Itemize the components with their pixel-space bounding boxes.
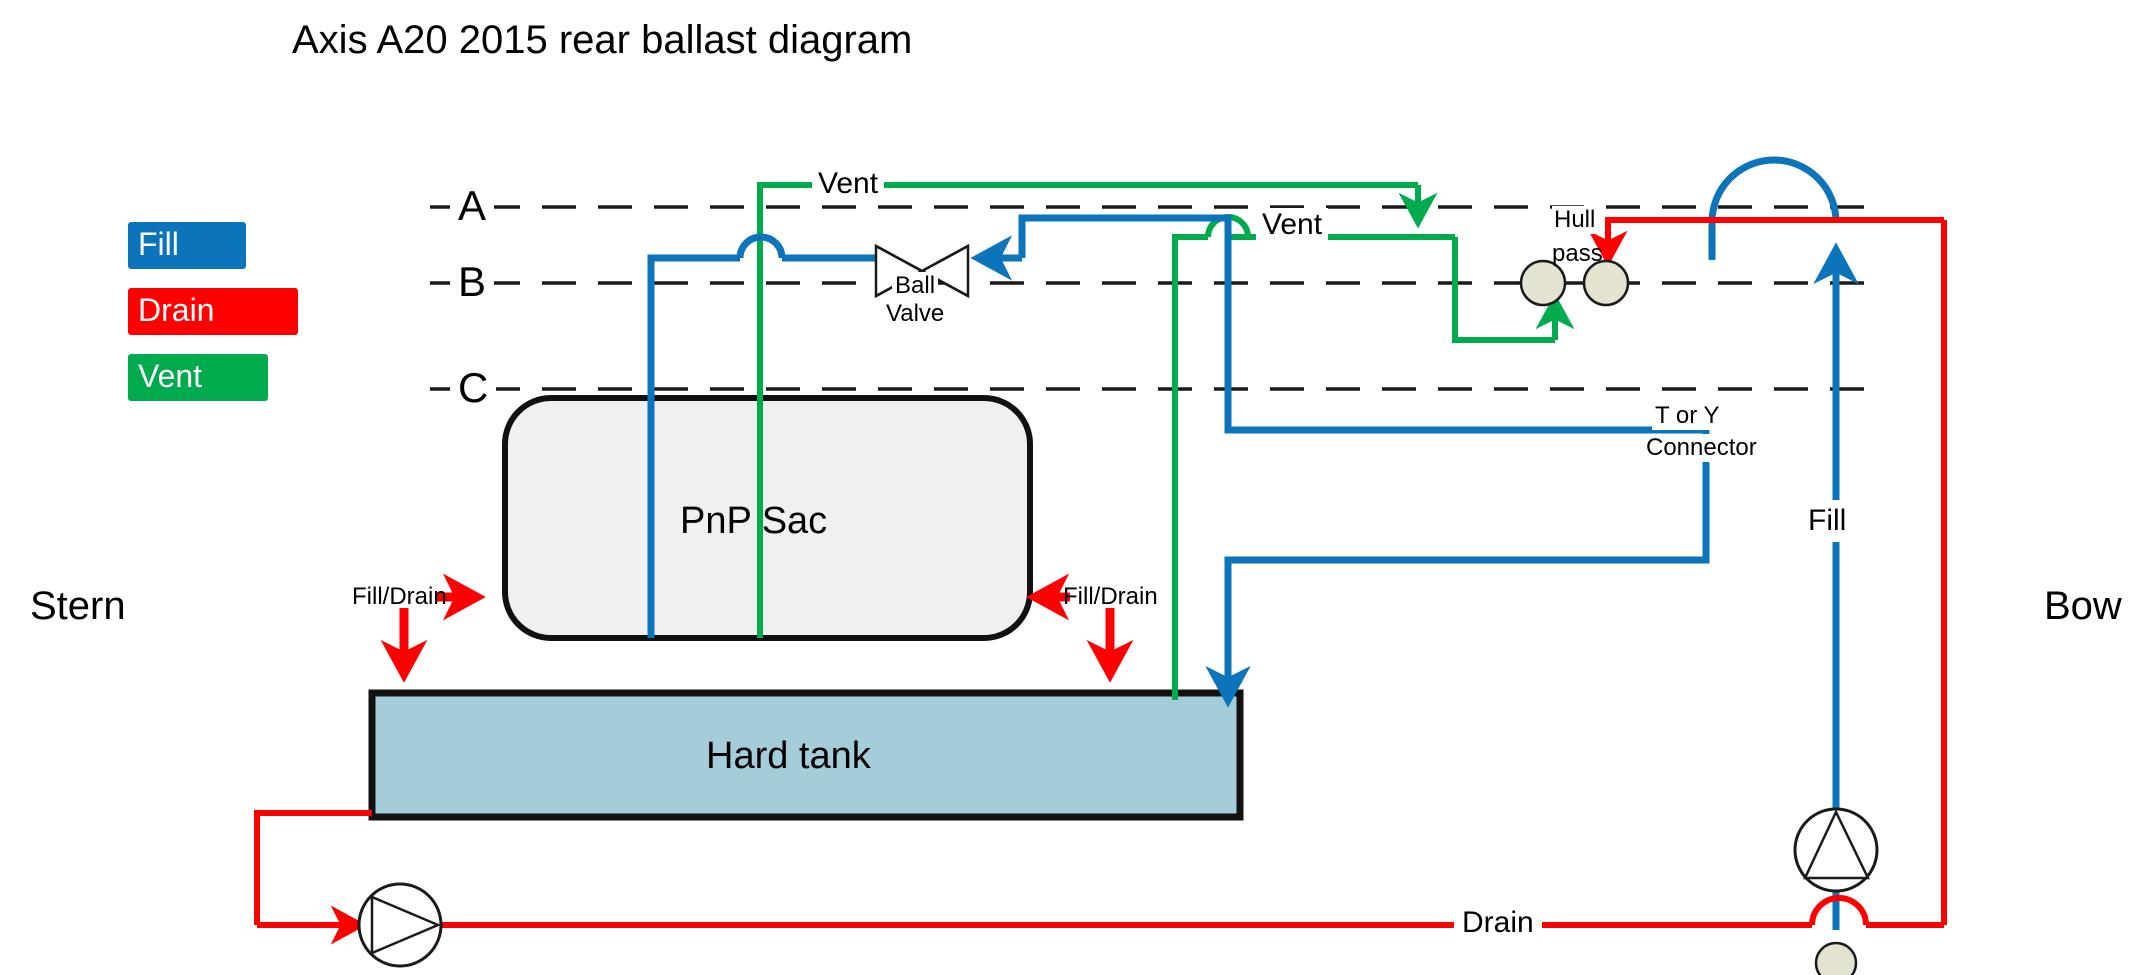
stern-pump-icon <box>359 884 441 966</box>
vent-label-top: Vent <box>812 167 884 201</box>
ballast-schematic-svg <box>0 0 2156 975</box>
fill-drain-label-right: Fill/Drain <box>1063 583 1158 611</box>
bow-pump-icon <box>1795 809 1877 891</box>
vent-label-mid: Vent <box>1256 208 1328 242</box>
bow-intake-fitting <box>1816 943 1856 975</box>
hard-tank-label: Hard tank <box>706 735 871 778</box>
legend-item-drain[interactable]: Drain <box>128 288 298 335</box>
hull-pass-label-line2: pass <box>1552 240 1603 268</box>
drain-label-bottom: Drain <box>1454 906 1542 940</box>
t-or-y-connector-label-line2: Connector <box>1643 434 1760 462</box>
legend-item-vent-label: Vent <box>138 358 202 394</box>
waterline-label-c: C <box>450 364 496 412</box>
diagram-canvas: Axis A20 2015 rear ballast diagram Fill … <box>0 0 2156 975</box>
legend-item-fill[interactable]: Fill <box>128 222 246 269</box>
stern-label: Stern <box>30 584 126 629</box>
t-or-y-connector-label-line1: T or Y <box>1652 402 1722 430</box>
waterline-label-a: A <box>450 182 494 230</box>
hull-pass-label-line1: Hull <box>1552 206 1597 234</box>
legend-item-vent[interactable]: Vent <box>128 354 268 401</box>
ball-valve-label-line2: Valve <box>886 300 944 328</box>
legend-item-drain-label: Drain <box>138 292 214 328</box>
waterline-label-b: B <box>450 258 494 306</box>
fill-drain-label-left: Fill/Drain <box>352 583 447 611</box>
bow-label: Bow <box>2044 584 2122 629</box>
fill-label-riser: Fill <box>1800 500 1854 542</box>
ball-valve-label-line1: Ball <box>892 272 938 300</box>
page-title: Axis A20 2015 rear ballast diagram <box>292 18 912 63</box>
legend-item-fill-label: Fill <box>138 226 179 262</box>
pnp-sac-label: PnP Sac <box>680 500 827 543</box>
